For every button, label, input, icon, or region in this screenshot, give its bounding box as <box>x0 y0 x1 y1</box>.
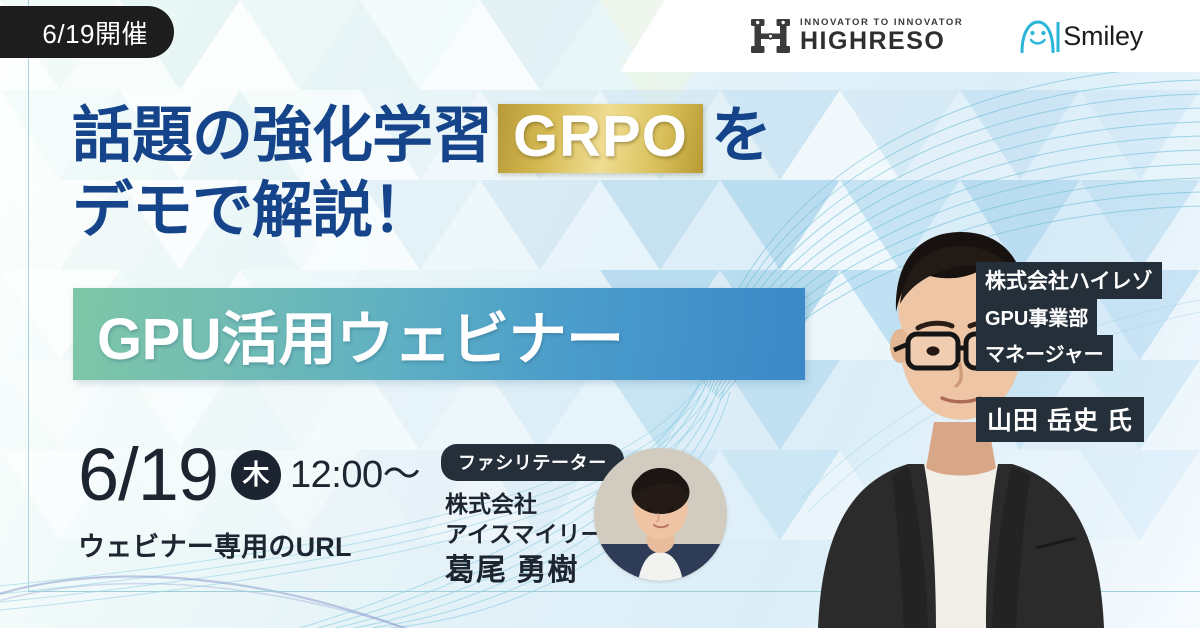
speaker-department: GPU事業部 <box>976 299 1097 335</box>
highreso-h-mark-icon <box>750 17 791 55</box>
schedule-date: 6/19 <box>78 438 218 512</box>
subtitle-text: GPU活用ウェビナー <box>73 292 624 376</box>
headline-line1-post: を <box>711 104 771 166</box>
aismiley-face-mark-icon <box>1017 19 1061 53</box>
speaker-role: マネージャー <box>976 335 1113 371</box>
facilitator-role-badge: ファシリテーター <box>441 444 624 481</box>
speaker-company: 株式会社ハイレゾ <box>976 262 1162 299</box>
highreso-tagline: INNOVATOR TO INNOVATOR <box>800 18 963 28</box>
event-date-badge-label: 6/19開催 <box>42 14 148 51</box>
partner-logo-row: INNOVATOR TO INNOVATOR HIGHRESO Smiley <box>620 0 1200 72</box>
webinar-banner: INNOVATOR TO INNOVATOR HIGHRESO Smiley 6… <box>0 0 1200 628</box>
schedule-day-of-week: 木 <box>243 462 270 489</box>
headline-highlight-box: GRPO <box>498 104 703 173</box>
highreso-wordmark: HIGHRESO <box>800 29 945 54</box>
headline-line2: デモで解説！ <box>72 179 432 241</box>
headline-highlight-text: GRPO <box>513 107 688 166</box>
schedule-block: 6/19 木 12:00〜 ウェビナー専用のURL <box>78 438 420 564</box>
highreso-logo[interactable]: INNOVATOR TO INNOVATOR HIGHRESO <box>750 17 963 55</box>
aismiley-logo[interactable]: Smiley <box>1017 19 1143 53</box>
subtitle-bar: GPU活用ウェビナー <box>73 288 805 380</box>
speaker-name: 山田 岳史 氏 <box>976 397 1144 442</box>
event-date-badge: 6/19開催 <box>0 6 174 58</box>
decor-vertical-rule <box>28 0 29 592</box>
schedule-day-of-week-badge: 木 <box>231 450 281 500</box>
facilitator-portrait <box>594 448 727 581</box>
schedule-time: 12:00〜 <box>290 456 420 494</box>
schedule-note: ウェビナー専用のURL <box>78 525 420 564</box>
speaker-labels: 株式会社ハイレゾ GPU事業部 マネージャー 山田 岳史 氏 <box>976 262 1200 442</box>
headline: 話題の強化学習 GRPO を デモで解説！ <box>72 104 832 241</box>
headline-line1-pre: 話題の強化学習 <box>72 104 492 166</box>
aismiley-wordmark: Smiley <box>1063 23 1143 50</box>
facilitator-role-label: ファシリテーター <box>458 449 607 475</box>
